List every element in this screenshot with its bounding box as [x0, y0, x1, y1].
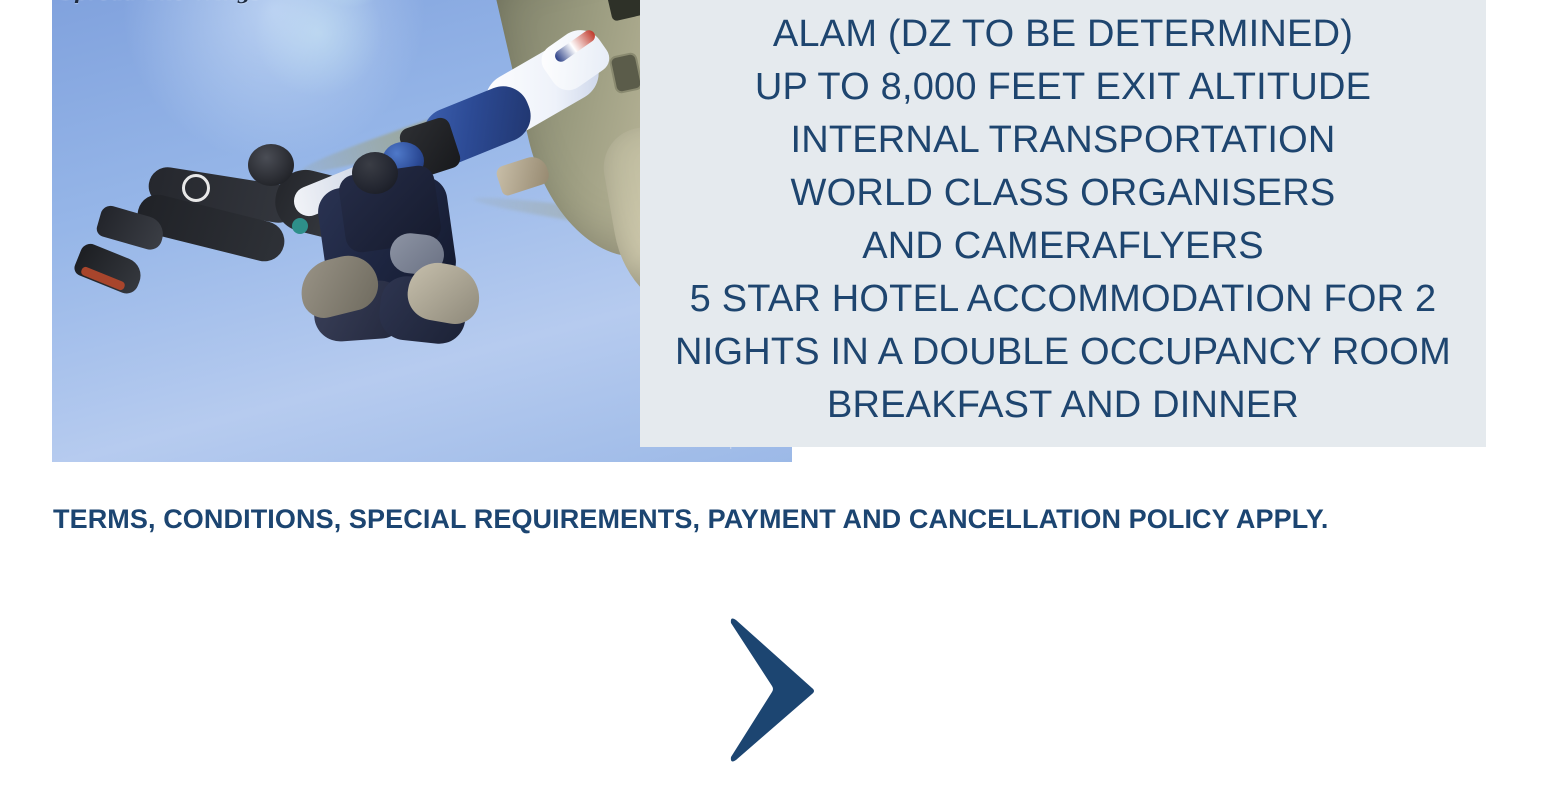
terms-and-conditions-notice: TERMS, CONDITIONS, SPECIAL REQUIREMENTS,… — [53, 504, 1329, 535]
package-inclusions-panel: TWO MI-17 BEACH JUMPS AT MARSA ALAM (DZ … — [640, 0, 1486, 447]
inclusion-line: UP TO 8,000 FEET EXIT ALTITUDE — [654, 61, 1472, 114]
spread-the-wings-watermark: Spread The Wings — [60, 0, 262, 4]
inclusion-line: 5 STAR HOTEL ACCOMMODATION FOR 2 NIGHTS … — [654, 273, 1472, 379]
next-chevron-icon[interactable] — [728, 612, 820, 768]
inclusion-line: TWO MI-17 BEACH JUMPS AT MARSA ALAM (DZ … — [654, 0, 1472, 61]
inclusion-line: BREAKFAST AND DINNER — [654, 379, 1472, 432]
inclusion-line: WORLD CLASS ORGANISERS AND CAMERAFLYERS — [654, 167, 1472, 273]
inclusion-line: INTERNAL TRANSPORTATION — [654, 114, 1472, 167]
